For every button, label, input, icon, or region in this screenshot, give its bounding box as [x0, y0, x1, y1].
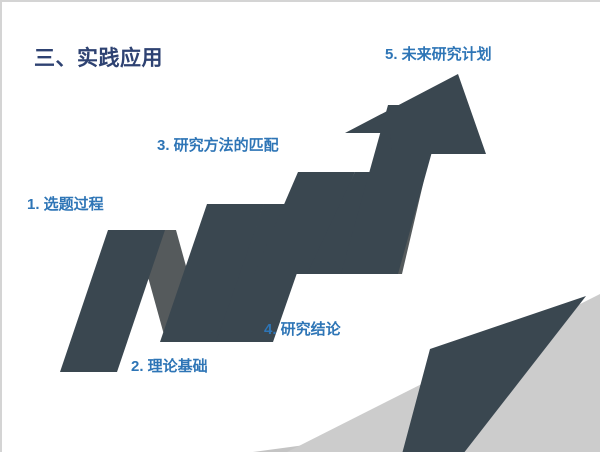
- step-label-2: 2. 理论基础: [131, 355, 208, 376]
- arrow-head-triangle: [345, 74, 486, 154]
- step-label-4: 4. 研究结论: [264, 318, 341, 339]
- slide-canvas: 三、实践应用 1. 选题过程 2. 理论基础 3. 研究方法的匹配 4. 研究结…: [0, 0, 600, 452]
- step-label-5: 5. 未来研究计划: [385, 43, 492, 64]
- decor-dark-parallelogram: [402, 296, 586, 452]
- step-label-3: 3. 研究方法的匹配: [157, 134, 279, 155]
- page-title: 三、实践应用: [34, 42, 163, 72]
- step-label-1: 1. 选题过程: [27, 193, 104, 214]
- zigzag-down-stroke-1: [60, 230, 165, 372]
